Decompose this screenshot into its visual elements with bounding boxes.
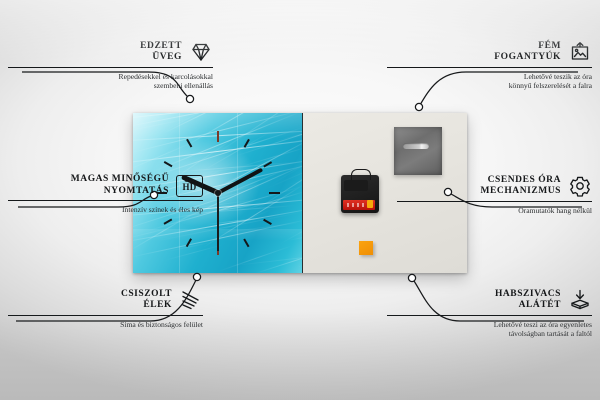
- feature-subtitle: Repedésekkel és karcolásokkal szembeni e…: [8, 72, 213, 91]
- infographic-canvas: EDZETT ÜVEG Repedésekkel és karcolásokka…: [0, 0, 600, 400]
- feature-title: CSISZOLT ÉLEK: [121, 289, 172, 312]
- gear-icon: [568, 174, 592, 198]
- feature-foam-pad: HABSZIVACS ALÁTÉT Lehetővé teszi az óra …: [387, 288, 592, 339]
- divider: [387, 315, 592, 316]
- feature-subtitle: Óramutatók hang nélkül: [397, 206, 592, 216]
- clock-mechanism: [341, 175, 379, 213]
- feature-subtitle: Intenzív színek és éles kép: [8, 205, 203, 215]
- feature-subtitle: Lehetővé teszik az óra könnyű felszerelé…: [387, 72, 592, 91]
- hanger-slot: [403, 143, 429, 149]
- foam-pad: [359, 241, 373, 255]
- feature-subtitle: Lehetővé teszi az óra egyenletes távolsá…: [387, 320, 592, 339]
- divider: [8, 315, 203, 316]
- divider: [8, 200, 203, 201]
- mechanism-panel: [344, 180, 368, 191]
- feature-title: FÉM FOGANTYÚK: [494, 41, 561, 64]
- feature-title: MAGAS MINŐSÉGŰ NYOMTATÁS: [71, 174, 169, 197]
- feature-title: HABSZIVACS ALÁTÉT: [495, 289, 561, 312]
- polished-edges-icon: [179, 288, 203, 312]
- feature-metal-handles: FÉM FOGANTYÚK Lehetővé teszik az óra kön…: [387, 40, 592, 91]
- feature-title: EDZETT ÜVEG: [140, 41, 182, 64]
- ultra-hd-icon: ultraHD: [176, 175, 203, 197]
- feature-silent-mechanism: CSENDES ÓRA MECHANIZMUS Óramutatók hang …: [397, 174, 592, 215]
- wall-mount-icon: [568, 40, 592, 64]
- divider: [387, 67, 592, 68]
- hanger-loop-icon: [351, 169, 371, 180]
- feature-polished-edges: CSISZOLT ÉLEK Sima és biztonságos felüle…: [8, 288, 203, 329]
- diamond-icon: [189, 40, 213, 64]
- divider: [397, 201, 592, 202]
- feature-subtitle: Sima és biztonságos felület: [8, 320, 203, 330]
- battery-plus-terminal: [367, 200, 373, 208]
- metal-hanger-plate: [394, 127, 442, 175]
- feature-high-quality-print: MAGAS MINŐSÉGŰ NYOMTATÁS ultraHD Intenzí…: [8, 174, 203, 214]
- feature-tempered-glass: EDZETT ÜVEG Repedésekkel és karcolásokka…: [8, 40, 213, 91]
- battery: [343, 200, 375, 210]
- feature-title: CSENDES ÓRA MECHANIZMUS: [481, 175, 561, 198]
- foam-pad-icon: [568, 288, 592, 312]
- divider: [8, 67, 213, 68]
